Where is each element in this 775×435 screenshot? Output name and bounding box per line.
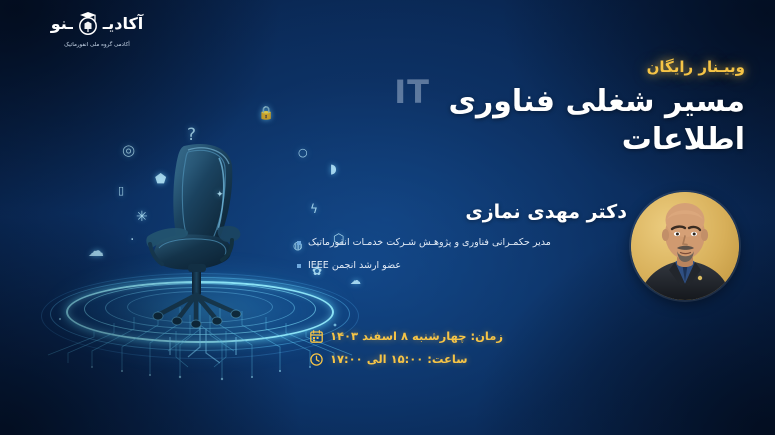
speaker-avatar: [631, 192, 739, 300]
lock-icon: 🔒: [258, 107, 274, 120]
speaker-credential-item: عضو ارشد انجمن IEEE: [297, 259, 627, 274]
calendar-icon: [310, 330, 323, 343]
speaker-name: دکتر مهدی نمازی: [297, 200, 627, 225]
bullet-square-icon: [297, 264, 301, 268]
brand-logo-row: آکادیـ ـنو: [12, 8, 182, 40]
bullet-square-icon: [297, 241, 301, 245]
rocket-icon: ◗: [330, 163, 337, 176]
schedule-text: زمان: چهارشنبه ۸ اسفند ۱۴۰۳: [330, 328, 503, 344]
circle-icon: ○: [298, 147, 308, 158]
webinar-banner: 🔒?◎⬟✳☁◗○⬡◍✿☁▯·✦ϟ آکادیـ ـنو آکادمی گروه …: [0, 0, 775, 435]
speaker-block: دکتر مهدی نمازی مدیر حکمـرانی فناوری و پ…: [297, 200, 627, 283]
fingerprint-icon: ◎: [122, 143, 135, 158]
schedule-text: ساعت: ۱۵:۰۰ الی ۱۷:۰۰: [330, 351, 468, 367]
spark-icon: ✦: [216, 191, 224, 200]
clock-icon: [310, 353, 323, 366]
shield-icon: ⬟: [155, 173, 166, 186]
mobile-icon: ▯: [118, 185, 124, 196]
speaker-credential-text: مدیر حکمـرانی فناوری و پژوهـش شـرکت خدمـ…: [308, 236, 551, 251]
speaker-credentials-list: مدیر حکمـرانی فناوری و پژوهـش شـرکت خدمـ…: [297, 236, 627, 274]
eyebrow-free-webinar: وبیـنار رایگان: [325, 58, 745, 76]
dot-icon: ·: [130, 233, 134, 247]
office-chair-icon: [126, 138, 276, 333]
headline-block: وبیـنار رایگان مسیر شغلی فناوری اطلاعات: [325, 58, 745, 158]
speaker-credential-item: مدیر حکمـرانی فناوری و پژوهـش شـرکت خدمـ…: [297, 236, 627, 251]
question-mark-icon: ?: [187, 127, 196, 144]
brand-word-left: ـنو: [51, 16, 73, 32]
academy-graduation-cap-logo-icon: [75, 11, 101, 37]
it-watermark: IT: [394, 76, 430, 108]
schedule-row: زمان: چهارشنبه ۸ اسفند ۱۴۰۳: [310, 328, 610, 344]
brand-tagline: آکادمی گروه ملی انفورماتیک: [12, 42, 182, 48]
schedule-row: ساعت: ۱۵:۰۰ الی ۱۷:۰۰: [310, 351, 610, 367]
page-title: مسیر شغلی فناوری اطلاعات: [325, 83, 745, 158]
asterisk-icon: ✳: [136, 210, 148, 224]
brand-word-right: آکادیـ: [103, 16, 143, 32]
speaker-credential-text: عضو ارشد انجمن IEEE: [308, 259, 401, 274]
cloud-icon: ☁: [88, 243, 104, 259]
schedule-block: زمان: چهارشنبه ۸ اسفند ۱۴۰۳ساعت: ۱۵:۰۰ ا…: [310, 328, 610, 374]
brand-logo[interactable]: آکادیـ ـنو آکادمی گروه ملی انفورماتیک: [12, 8, 182, 48]
